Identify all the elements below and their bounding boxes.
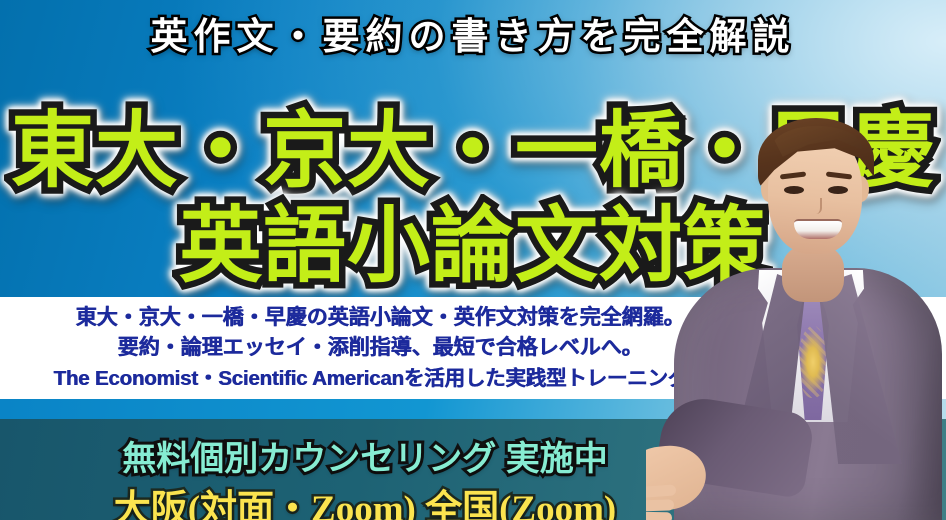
smiling-mouth: [794, 219, 842, 239]
instructor-photo: [646, 0, 946, 520]
description-line-2: 要約・論理エッセイ・添削指導、最短で合格レベルへ。: [118, 333, 643, 363]
finger-3: [646, 512, 672, 520]
finger-2: [646, 499, 674, 511]
eye-left: [784, 186, 804, 194]
nose: [811, 198, 822, 214]
cta-counseling-text: 無料個別カウンセリング 実施中: [0, 431, 730, 480]
promotional-banner: 英作文・要約の書き方を完全解説 東大・京大・一橋・早慶 英語小論文対策 東大・京…: [0, 0, 946, 520]
description-line-1: 東大・京大・一橋・早慶の英語小論文・英作文対策を完全網羅。: [76, 303, 685, 333]
neck: [782, 246, 844, 302]
cta-location-text: 大阪(対面・Zoom) 全国(Zoom): [0, 478, 730, 520]
eye-right: [828, 186, 848, 194]
description-line-3: The Economist・Scientific Americanを活用した実践…: [53, 364, 706, 393]
